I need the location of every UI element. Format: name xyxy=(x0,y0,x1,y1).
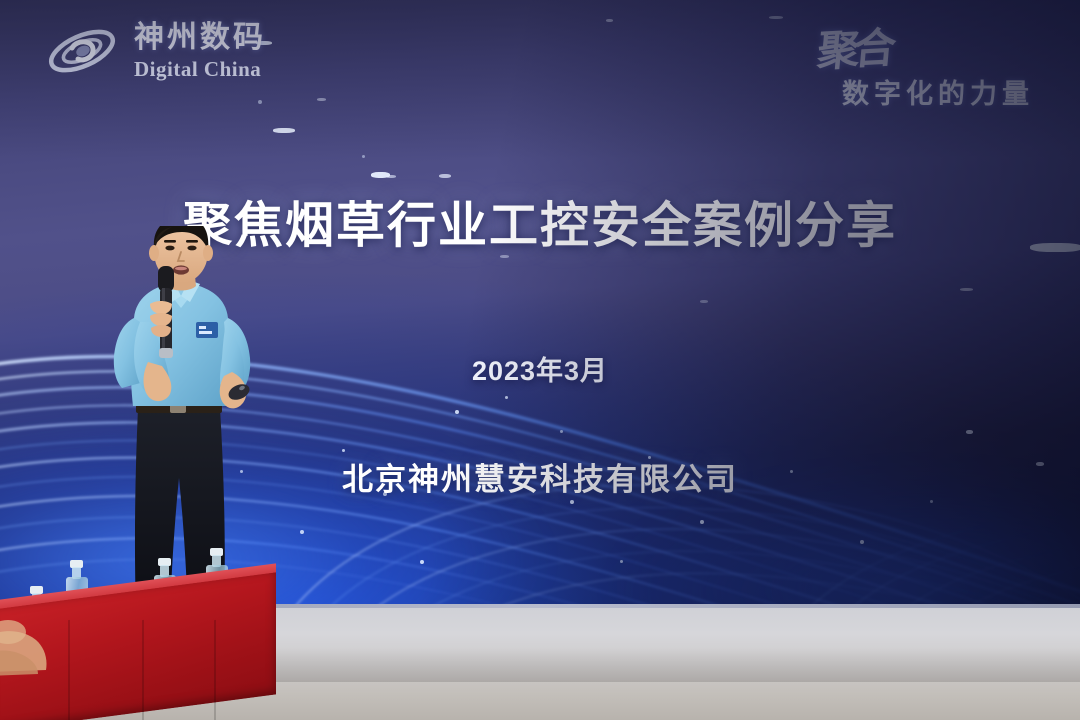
particle-dot xyxy=(362,155,365,158)
particle-dot xyxy=(258,100,262,104)
event-subtitle: 数字化的力量 xyxy=(842,72,1034,111)
spiral-galaxy-icon xyxy=(42,18,122,84)
event-calligraphy: 聚合 xyxy=(815,14,893,79)
photo-stage: 神州数码 Digital China 聚合 数字化的力量 聚焦烟草行业工控安全案… xyxy=(0,0,1080,720)
particle xyxy=(317,98,326,101)
brand-text: 神州数码 Digital China xyxy=(134,23,266,80)
particle xyxy=(606,19,613,22)
brand-name-cn: 神州数码 xyxy=(134,23,266,53)
seated-person xyxy=(0,614,90,684)
brand-name-en: Digital China xyxy=(134,59,266,80)
particle xyxy=(371,172,390,178)
particle xyxy=(386,175,396,178)
chest-logo-mark xyxy=(196,322,218,338)
speaker-figure xyxy=(92,226,302,616)
particle xyxy=(769,16,783,19)
particle xyxy=(273,128,295,133)
particle xyxy=(439,174,451,178)
brand-logo: 神州数码 Digital China xyxy=(42,18,266,84)
event-mark: 聚合 数字化的力量 xyxy=(796,16,1056,116)
